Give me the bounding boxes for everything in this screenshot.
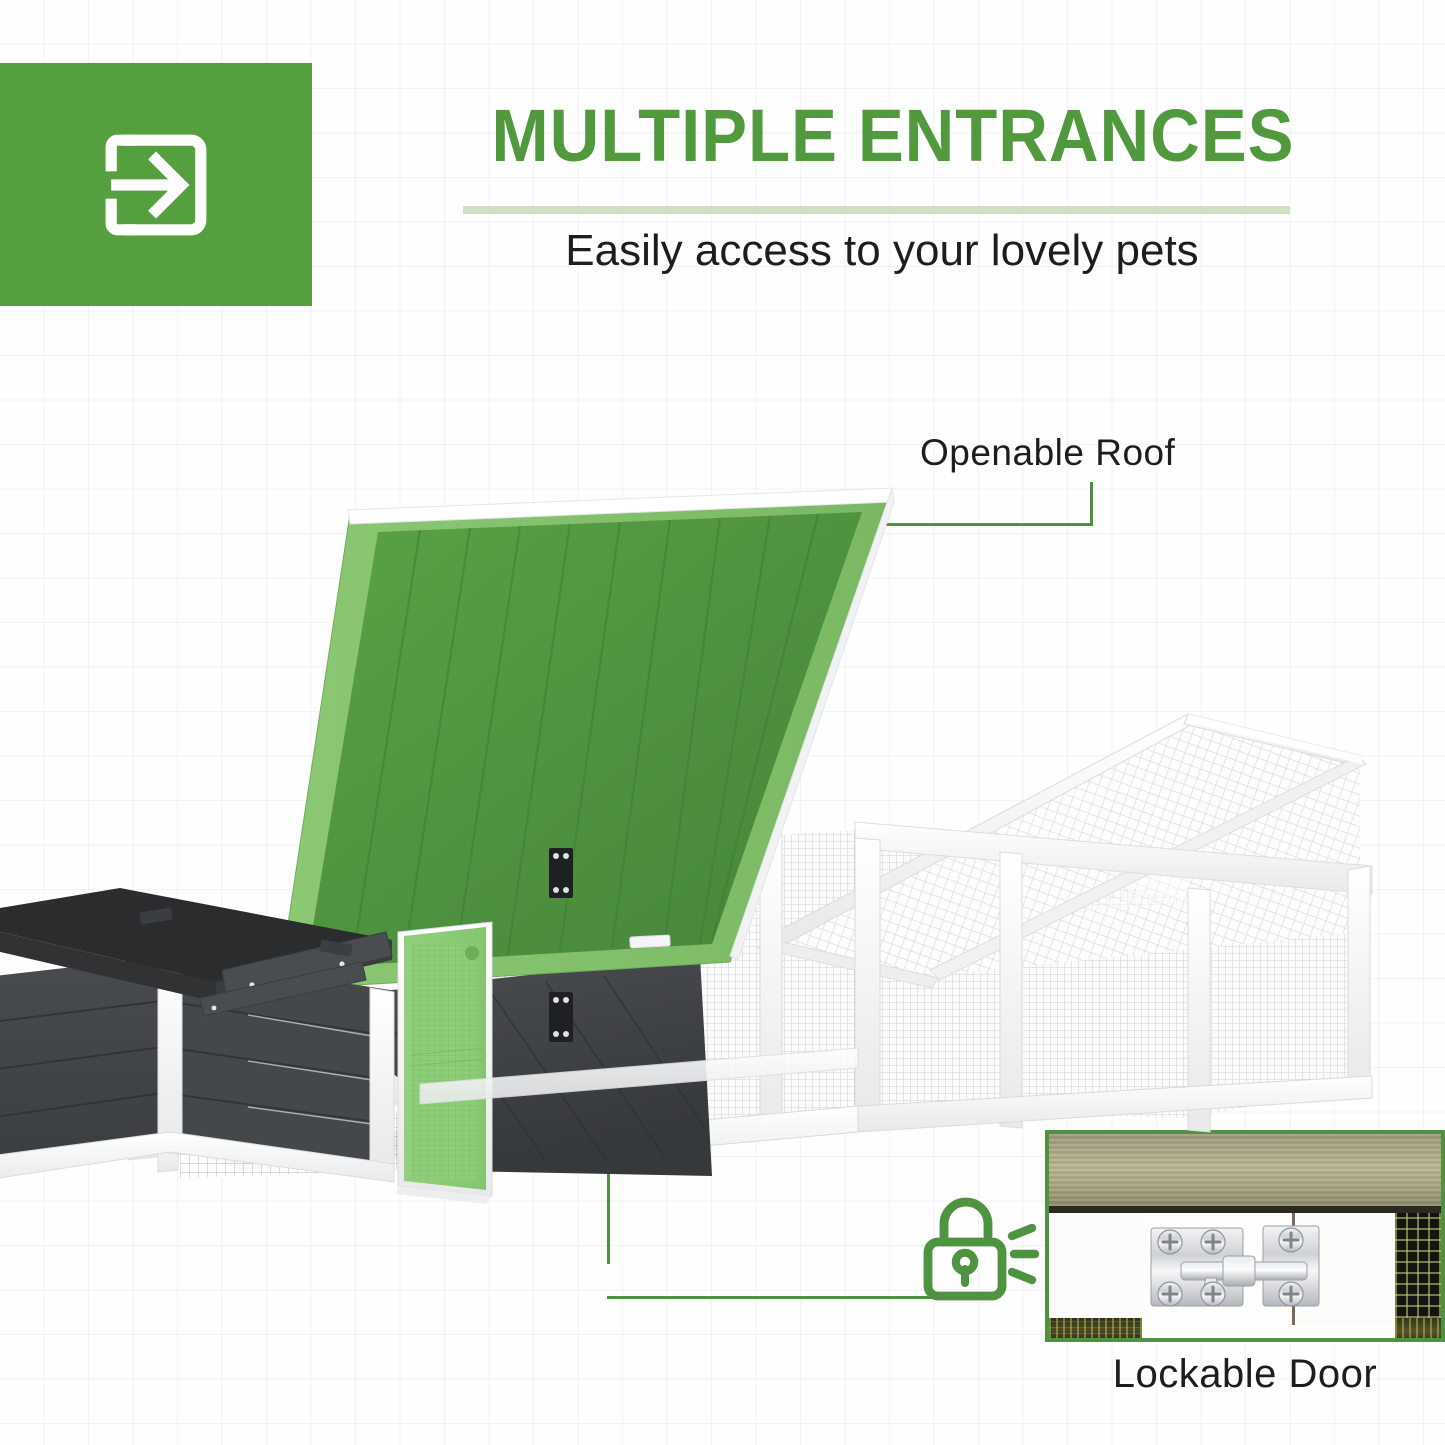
title-divider: [463, 206, 1290, 214]
product-image: [0, 470, 1445, 1230]
inset-caption: Lockable Door: [1045, 1352, 1445, 1397]
feature-badge: [0, 63, 312, 306]
infographic-canvas: MULTIPLE ENTRANCES Easily access to your…: [0, 0, 1445, 1445]
green-mesh-door[interactable]: [396, 922, 492, 1204]
page-subtitle: Easily access to your lovely pets: [462, 222, 1302, 280]
inset-grass-left: [1049, 1318, 1142, 1342]
leader-line-door-horizontal: [607, 1296, 965, 1299]
inset-grass-right: [1395, 1318, 1445, 1342]
slide-bolt-latch-icon: [1145, 1218, 1355, 1335]
page-title: MULTIPLE ENTRANCES: [491, 96, 1272, 176]
roof-hinge: [630, 935, 671, 948]
callout-label-openable-roof: Openable Roof: [920, 432, 1175, 474]
